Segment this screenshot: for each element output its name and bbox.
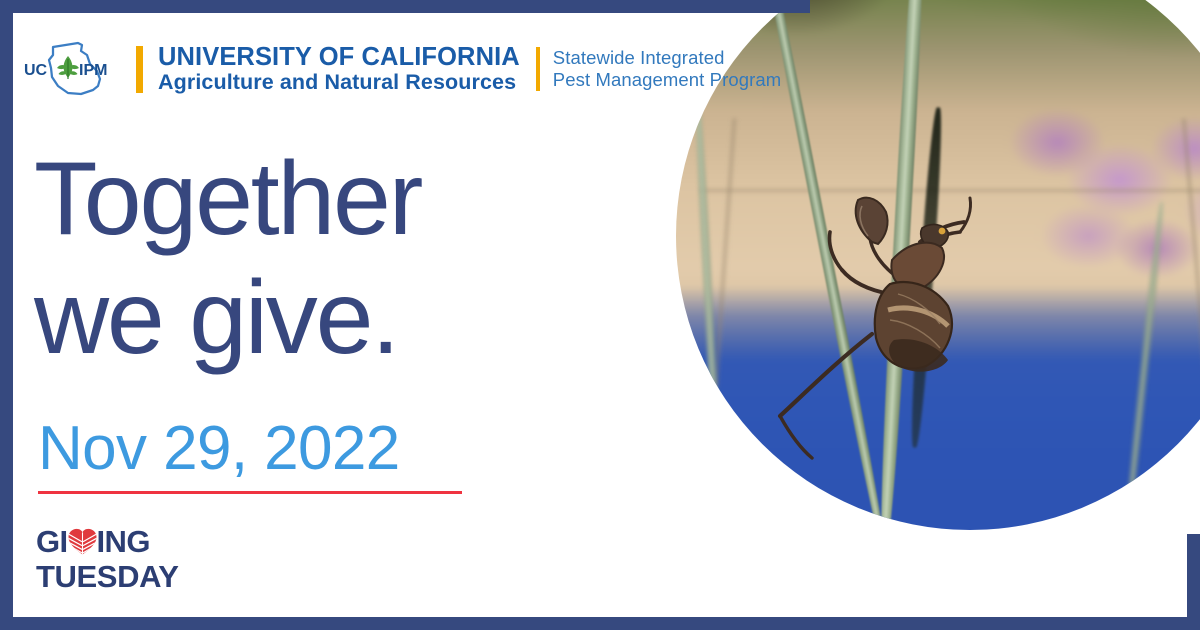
uc-ipm-logo-icon: UC IPM [22, 38, 114, 100]
giving-tuesday-line-1: GI [36, 526, 178, 556]
event-date: Nov 29, 2022 [38, 418, 462, 480]
header-divider-primary [136, 46, 143, 93]
uc-ipm-uc-text: UC [24, 62, 48, 79]
headline: Together we give. [34, 140, 421, 377]
date-underline [38, 491, 462, 494]
program-line-1: Statewide Integrated [553, 47, 782, 69]
anr-line-1: UNIVERSITY OF CALIFORNIA [158, 44, 520, 71]
brand-header: UC IPM UNIVERSITY OF CALIFORNIA Agricult… [22, 38, 781, 100]
program-line-2: Pest Management Program [553, 69, 782, 91]
event-date-block: Nov 29, 2022 [38, 418, 462, 494]
uc-ipm-ipm-text: IPM [79, 62, 107, 79]
promo-banner: UC IPM UNIVERSITY OF CALIFORNIA Agricult… [0, 0, 1200, 630]
giving-text-after-heart: ING [97, 526, 150, 557]
giving-tuesday-line-2: TUESDAY [36, 561, 178, 592]
heart-hands-icon [67, 527, 98, 556]
headline-line-1: Together [34, 140, 421, 259]
giving-tuesday-logo: GI [36, 526, 178, 592]
border-right [1187, 534, 1200, 630]
anr-wordmark: UNIVERSITY OF CALIFORNIA Agriculture and… [158, 44, 520, 94]
border-top [0, 0, 810, 13]
program-wordmark: Statewide Integrated Pest Management Pro… [553, 47, 782, 91]
anr-line-2: Agriculture and Natural Resources [158, 71, 520, 94]
header-divider-secondary [536, 47, 540, 91]
border-left [0, 0, 13, 630]
headline-line-2: we give. [34, 259, 421, 378]
border-bottom [0, 617, 1200, 630]
giving-text-before-heart: GI [36, 526, 68, 557]
